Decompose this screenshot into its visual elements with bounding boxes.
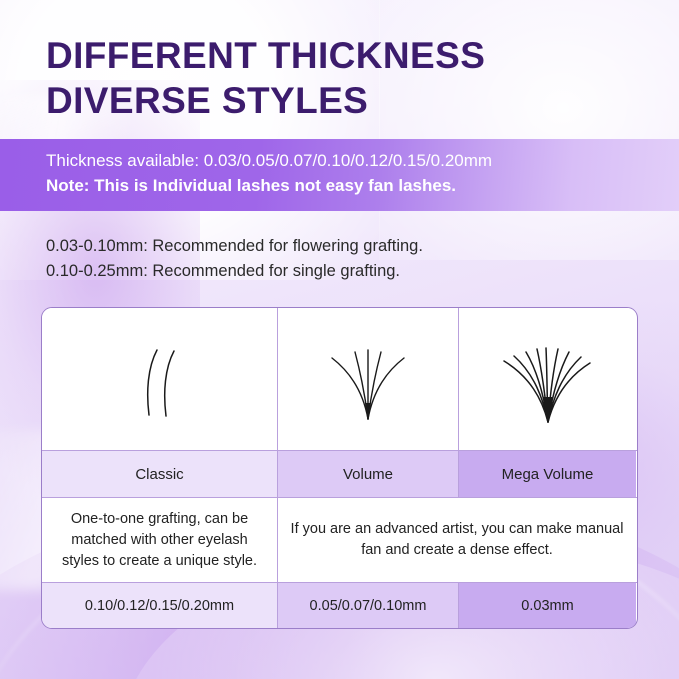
description-row: One-to-one grafting, can be matched with… [42,497,637,582]
product-infographic: DIFFERENT THICKNESS DIVERSE STYLES Thick… [0,0,679,679]
label-cell-mega-volume: Mega Volume [459,451,636,497]
description-cell-classic: One-to-one grafting, can be matched with… [42,498,278,582]
thickness-values-row: 0.10/0.12/0.15/0.20mm 0.05/0.07/0.10mm 0… [42,582,637,628]
volume-illustration-cell [278,308,459,450]
recommendation-line-1: 0.03-0.10mm: Recommended for flowering g… [46,234,423,259]
banner-thickness-text: Thickness available: 0.03/0.05/0.07/0.10… [46,148,679,173]
recommendation-line-2: 0.10-0.25mm: Recommended for single graf… [46,259,423,284]
label-cell-classic: Classic [42,451,278,497]
page-title: DIFFERENT THICKNESS DIVERSE STYLES [46,33,646,123]
recommendation-block: 0.03-0.10mm: Recommended for flowering g… [46,234,423,284]
banner-note-text: Note: This is Individual lashes not easy… [46,173,679,198]
lash-style-comparison-table: Classic Volume Mega Volume One-to-one gr… [41,307,638,629]
description-cell-volume-mega: If you are an advanced artist, you can m… [278,498,636,582]
mega-volume-fan-icon [488,319,608,439]
mega-volume-illustration-cell [459,308,636,450]
classic-lash-icon [100,319,220,439]
values-cell-mega-volume: 0.03mm [459,583,636,628]
volume-fan-icon [308,319,428,439]
values-cell-classic: 0.10/0.12/0.15/0.20mm [42,583,278,628]
thickness-banner: Thickness available: 0.03/0.05/0.07/0.10… [0,139,679,211]
classic-illustration-cell [42,308,278,450]
page-title-line-1: DIFFERENT THICKNESS [46,33,646,78]
style-label-row: Classic Volume Mega Volume [42,450,637,497]
label-cell-volume: Volume [278,451,459,497]
page-title-line-2: DIVERSE STYLES [46,78,646,123]
values-cell-volume: 0.05/0.07/0.10mm [278,583,459,628]
illustration-row [42,308,637,450]
